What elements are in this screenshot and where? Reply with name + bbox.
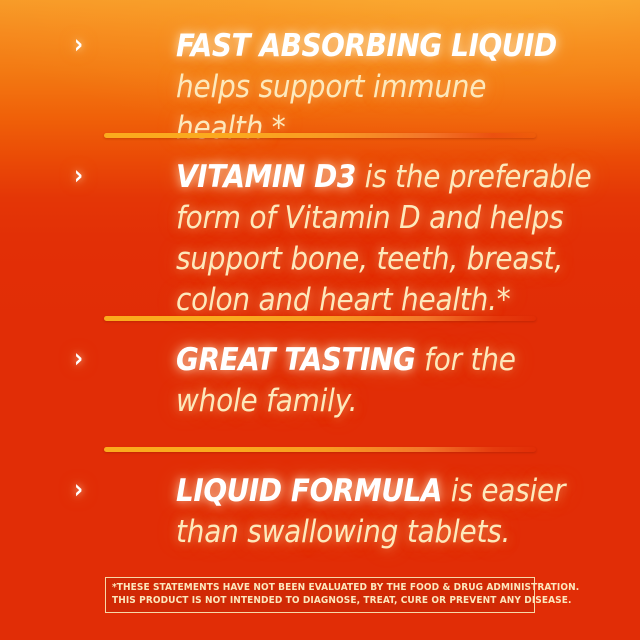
benefit-item-great-tasting: › GREAT TASTING for the whole family. xyxy=(0,340,640,422)
benefit-headline: LIQUID FORMULA xyxy=(176,473,442,509)
section-divider xyxy=(104,133,536,138)
section-divider xyxy=(104,316,536,321)
benefit-item-vitamin-d3: › VITAMIN D3 is the preferable form of V… xyxy=(0,157,640,321)
benefit-headline: GREAT TASTING xyxy=(176,342,416,378)
benefit-headline: FAST ABSORBING LIQUID xyxy=(176,28,557,64)
benefit-text: GREAT TASTING for the whole family. xyxy=(72,340,612,422)
product-benefits-panel: › FAST ABSORBING LIQUID helps support im… xyxy=(0,0,640,640)
benefit-item-fast-absorbing-liquid: › FAST ABSORBING LIQUID helps support im… xyxy=(0,26,640,149)
chevron-right-icon: › xyxy=(74,475,92,505)
disclaimer-line-1: *THESE STATEMENTS HAVE NOT BEEN EVALUATE… xyxy=(112,582,528,595)
benefit-text: VITAMIN D3 is the preferable form of Vit… xyxy=(72,157,612,321)
chevron-right-icon: › xyxy=(74,344,92,374)
disclaimer-line-2: THIS PRODUCT IS NOT INTENDED TO DIAGNOSE… xyxy=(112,595,528,608)
chevron-right-icon: › xyxy=(74,30,92,60)
benefit-headline: VITAMIN D3 xyxy=(176,159,356,195)
section-divider xyxy=(104,447,536,452)
benefit-text: FAST ABSORBING LIQUID helps support immu… xyxy=(72,26,612,149)
chevron-right-icon: › xyxy=(74,161,92,191)
benefit-text: LIQUID FORMULA is easier than swallowing… xyxy=(72,471,612,553)
fda-disclaimer-box: *THESE STATEMENTS HAVE NOT BEEN EVALUATE… xyxy=(105,577,535,613)
benefit-item-liquid-formula: › LIQUID FORMULA is easier than swallowi… xyxy=(0,471,640,553)
